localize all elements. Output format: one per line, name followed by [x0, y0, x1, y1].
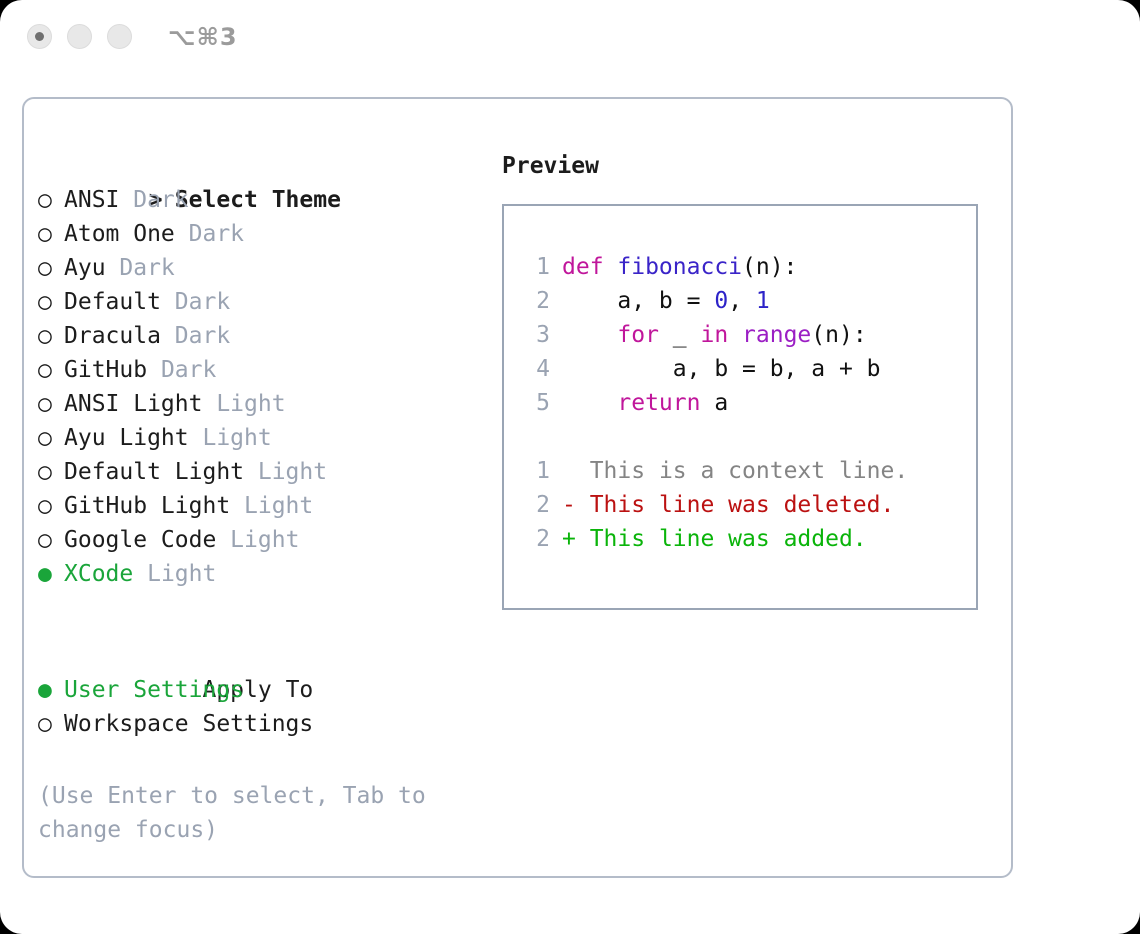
code-token: a, b = b, a + b [562, 356, 881, 382]
theme-option-name: Atom One [64, 221, 175, 247]
radio-selected-icon: ● [38, 557, 64, 591]
code-token [728, 322, 742, 348]
theme-option-name: ANSI [64, 187, 119, 213]
diff-text: This line was deleted. [576, 492, 895, 518]
code-line: 5 return a [520, 386, 908, 420]
theme-option[interactable]: ○GitHub Light Light [38, 489, 478, 523]
theme-option-name: ANSI Light [64, 391, 202, 417]
theme-option[interactable]: ○Ayu Dark [38, 251, 478, 285]
select-theme-header-label: Select Theme [175, 187, 341, 213]
diff-line-number: 2 [520, 522, 550, 556]
theme-option-name: Google Code [64, 527, 216, 553]
code-token: a, b = [562, 288, 714, 314]
code-line: 4 a, b = b, a + b [520, 352, 908, 386]
theme-list-column: >Select Theme ○ANSI Dark○Atom One Dark○A… [38, 149, 478, 847]
code-token: _ [659, 322, 701, 348]
radio-unselected-icon: ○ [38, 707, 64, 741]
theme-option-name: GitHub [64, 357, 147, 383]
theme-option[interactable]: ○Atom One Dark [38, 217, 478, 251]
radio-unselected-icon: ○ [38, 455, 64, 489]
theme-option[interactable]: ○Ayu Light Light [38, 421, 478, 455]
code-token: (n): [811, 322, 866, 348]
radio-unselected-icon: ○ [38, 285, 64, 319]
apply-to-option-name: Workspace Settings [64, 711, 313, 737]
theme-option-kind: Dark [106, 255, 175, 281]
radio-unselected-icon: ○ [38, 387, 64, 421]
apply-to-header: Apply To [38, 639, 478, 673]
theme-picker-panel: >Select Theme ○ANSI Dark○Atom One Dark○A… [22, 97, 1013, 878]
theme-option-kind: Light [202, 391, 285, 417]
theme-option[interactable]: ○Default Light Light [38, 455, 478, 489]
theme-option-kind: Light [189, 425, 272, 451]
preview-code: 1def fibonacci(n):2 a, b = 0, 13 for _ i… [520, 250, 908, 556]
apply-to-option-name: User Settings [64, 677, 244, 703]
diff-line: 1 This is a context line. [520, 454, 908, 488]
theme-option-name: Ayu [64, 255, 106, 281]
theme-option-name: Default Light [64, 459, 244, 485]
code-line: 2 a, b = 0, 1 [520, 284, 908, 318]
code-token: return [617, 390, 700, 416]
theme-option-kind: Dark [119, 187, 188, 213]
keyboard-hint-text: (Use Enter to select, Tab to change focu… [38, 779, 448, 847]
code-token: range [742, 322, 811, 348]
code-token [562, 322, 617, 348]
apply-to-section: Apply To ●User Settings○Workspace Settin… [38, 639, 478, 741]
code-line-number: 2 [520, 284, 550, 318]
radio-unselected-icon: ○ [38, 217, 64, 251]
code-token [562, 390, 617, 416]
theme-option-kind: Light [230, 493, 313, 519]
code-token: 1 [756, 288, 770, 314]
app-window: ⌥⌘3 >Select Theme ○ANSI Dark○Atom One Da… [0, 0, 1140, 934]
theme-option-kind: Dark [161, 289, 230, 315]
code-token: def [562, 254, 617, 280]
theme-option-kind: Dark [161, 323, 230, 349]
code-token: fibonacci [617, 254, 742, 280]
theme-option-name: GitHub Light [64, 493, 230, 519]
theme-option-kind: Light [244, 459, 327, 485]
preview-column: Preview 1def fibonacci(n):2 a, b = 0, 13… [502, 149, 1002, 610]
theme-option-kind: Dark [175, 221, 244, 247]
radio-unselected-icon: ○ [38, 183, 64, 217]
radio-unselected-icon: ○ [38, 421, 64, 455]
preview-title: Preview [502, 149, 1002, 183]
diff-sign: + [562, 526, 576, 552]
radio-unselected-icon: ○ [38, 489, 64, 523]
theme-option[interactable]: ○Dracula Dark [38, 319, 478, 353]
window-controls [27, 24, 132, 49]
code-line-number: 4 [520, 352, 550, 386]
code-token: , [728, 288, 756, 314]
theme-option[interactable]: ○GitHub Dark [38, 353, 478, 387]
theme-option[interactable]: ○Google Code Light [38, 523, 478, 557]
code-token: (n): [742, 254, 797, 280]
theme-option-kind: Light [216, 527, 299, 553]
diff-sign [562, 458, 576, 484]
radio-unselected-icon: ○ [38, 523, 64, 557]
diff-line-number: 2 [520, 488, 550, 522]
theme-option[interactable]: ○Default Dark [38, 285, 478, 319]
record-dot-icon [35, 32, 44, 41]
theme-option-kind: Dark [147, 357, 216, 383]
theme-option-kind: Light [133, 561, 216, 587]
preview-box: 1def fibonacci(n):2 a, b = 0, 13 for _ i… [502, 204, 978, 610]
diff-line: 2- This line was deleted. [520, 488, 908, 522]
radio-unselected-icon: ○ [38, 319, 64, 353]
code-line: 1def fibonacci(n): [520, 250, 908, 284]
diff-text: This line was added. [576, 526, 867, 552]
radio-unselected-icon: ○ [38, 251, 64, 285]
diff-text: This is a context line. [576, 458, 908, 484]
code-token: in [700, 322, 728, 348]
theme-option-name: Dracula [64, 323, 161, 349]
code-blank-line [520, 420, 908, 454]
code-line-number: 5 [520, 386, 550, 420]
code-line-number: 1 [520, 250, 550, 284]
code-token: for [617, 322, 659, 348]
theme-option-name: Default [64, 289, 161, 315]
radio-selected-icon: ● [38, 673, 64, 707]
theme-options-list: ○ANSI Dark○Atom One Dark○Ayu Dark○Defaul… [38, 183, 478, 591]
apply-to-option[interactable]: ○Workspace Settings [38, 707, 478, 741]
diff-sign: - [562, 492, 576, 518]
window-dot-active[interactable] [27, 24, 52, 49]
diff-line: 2+ This line was added. [520, 522, 908, 556]
window-dot-third[interactable] [107, 24, 132, 49]
window-dot-second[interactable] [67, 24, 92, 49]
code-token: 0 [714, 288, 728, 314]
theme-option[interactable]: ○ANSI Light Light [38, 387, 478, 421]
diff-line-number: 1 [520, 454, 550, 488]
code-line: 3 for _ in range(n): [520, 318, 908, 352]
select-theme-header: >Select Theme [38, 149, 478, 183]
keyboard-shortcut-label: ⌥⌘3 [168, 23, 238, 51]
theme-option-name: Ayu Light [64, 425, 189, 451]
code-token: a [700, 390, 728, 416]
radio-unselected-icon: ○ [38, 353, 64, 387]
title-bar: ⌥⌘3 [0, 0, 1140, 78]
code-line-number: 3 [520, 318, 550, 352]
theme-option[interactable]: ●XCode Light [38, 557, 478, 591]
theme-option-name: XCode [64, 561, 133, 587]
